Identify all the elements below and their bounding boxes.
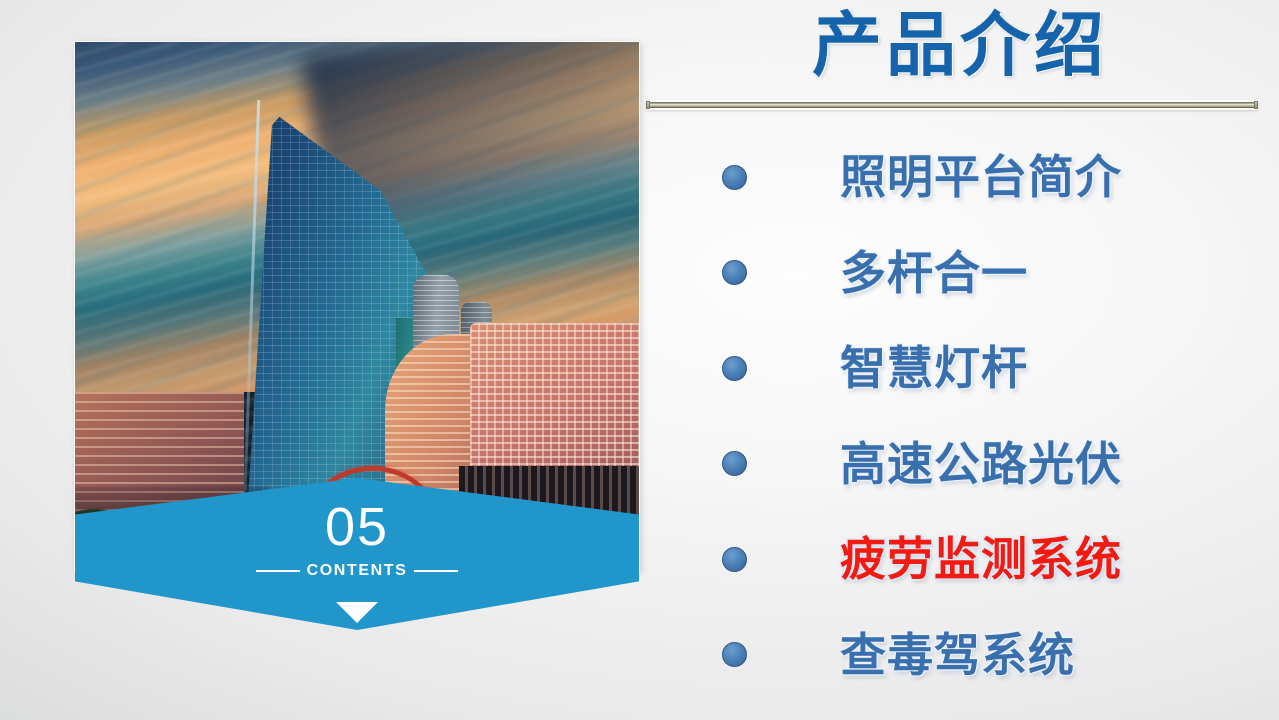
bullet-dot-icon [722, 547, 747, 572]
list-item[interactable]: 查毒驾系统 [660, 612, 1260, 698]
bullet-dot-icon [722, 260, 747, 285]
agenda-item-label-1: 照明平台简介 [840, 154, 1122, 200]
contents-label-row: CONTENTS [256, 562, 459, 580]
bullet-dot-icon [722, 451, 747, 476]
contents-number: 05 [325, 500, 389, 554]
agenda-item-label-5: 疲劳监测系统 [840, 536, 1122, 582]
contents-label: CONTENTS [307, 562, 408, 580]
bullet-dot-icon [722, 165, 747, 190]
agenda-item-label-2: 多杆合一 [840, 250, 1028, 296]
page-title: 产品介绍 [660, 6, 1260, 84]
list-item[interactable]: 高速公路光伏 [660, 421, 1260, 507]
list-item[interactable]: 智慧灯杆 [660, 325, 1260, 411]
contents-rule-right [414, 570, 458, 572]
agenda-item-label-3: 智慧灯杆 [840, 345, 1028, 391]
presentation-slide: 05 CONTENTS 产品介绍 照明平台简介 多杆合一 智慧灯杆 [0, 0, 1279, 720]
agenda-item-label-4: 高速公路光伏 [840, 441, 1122, 487]
agenda-item-label-6: 查毒驾系统 [840, 632, 1075, 678]
bullet-dot-icon [722, 642, 747, 667]
list-item[interactable]: 疲劳监测系统 [660, 516, 1260, 602]
divider-core [649, 102, 1255, 108]
list-item[interactable]: 多杆合一 [660, 230, 1260, 316]
bullet-dot-icon [722, 356, 747, 381]
divider-cap-right [1254, 101, 1258, 109]
contents-rule-left [256, 570, 300, 572]
agenda-list: 照明平台简介 多杆合一 智慧灯杆 高速公路光伏 疲劳监测系统 查毒驾系统 [660, 128, 1260, 708]
divider-cap-left [646, 101, 650, 109]
list-item[interactable]: 照明平台简介 [660, 134, 1260, 220]
title-divider [646, 100, 1258, 110]
